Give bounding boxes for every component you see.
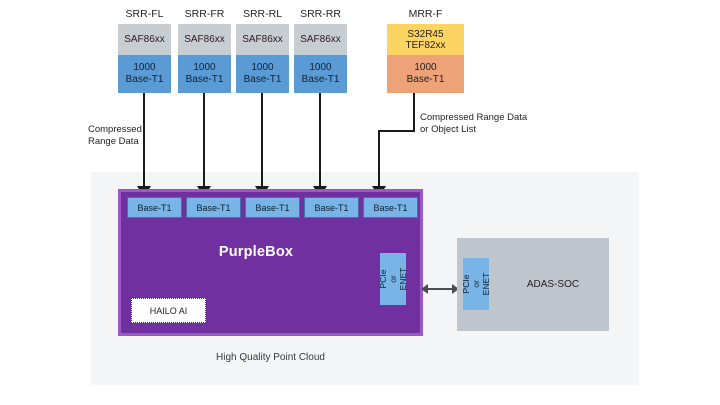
link-line-mrr-vertical-bottom bbox=[378, 130, 380, 194]
sensor-phy: 1000 Base-T1 bbox=[387, 55, 464, 93]
link-line-mrr-horizontal bbox=[378, 130, 415, 132]
diagram-canvas: SRR-FL SAF86xx 1000 Base-T1 SRR-FR SAF86… bbox=[0, 0, 720, 405]
sensor-block-mrr-f[interactable]: MRR-F S32R45 TEF82xx 1000 Base-T1 bbox=[387, 8, 464, 93]
sensor-block-srr-rr[interactable]: SRR-RR SAF86xx 1000 Base-T1 bbox=[294, 8, 347, 93]
sensor-phy: 1000 Base-T1 bbox=[118, 55, 171, 93]
sensor-chip: SAF86xx bbox=[294, 24, 347, 55]
purplebox-unit[interactable]: Base-T1 Base-T1 Base-T1 Base-T1 Base-T1 … bbox=[118, 189, 423, 336]
caption-mrr-link: Compressed Range Data or Object List bbox=[420, 112, 590, 136]
pcie-enet-label: PCIe or ENET bbox=[378, 266, 408, 292]
sensor-phy: 1000 Base-T1 bbox=[178, 55, 231, 93]
adas-soc-unit[interactable]: PCIe or ENET ADAS-SOC bbox=[457, 238, 609, 331]
sensor-label: MRR-F bbox=[387, 8, 464, 20]
pcie-enet-label: PCIe or ENET bbox=[461, 271, 491, 297]
sensor-chip: SAF86xx bbox=[178, 24, 231, 55]
sensor-phy: 1000 Base-T1 bbox=[294, 55, 347, 93]
hailo-ai-label: HAILO AI bbox=[150, 306, 188, 316]
purplebox-pcie-enet-port[interactable]: PCIe or ENET bbox=[380, 253, 406, 305]
sensor-label: SRR-FL bbox=[118, 8, 171, 20]
sensor-chip: SAF86xx bbox=[236, 24, 289, 55]
purplebox-adas-link bbox=[427, 288, 453, 290]
sensor-block-srr-fl[interactable]: SRR-FL SAF86xx 1000 Base-T1 bbox=[118, 8, 171, 93]
caption-srr-link: Compressed Range Data bbox=[88, 124, 168, 148]
sensor-label: SRR-FR bbox=[178, 8, 231, 20]
sensor-phy: 1000 Base-T1 bbox=[236, 55, 289, 93]
adas-soc-label: ADAS-SOC bbox=[497, 238, 609, 331]
purplebox-title: PurpleBox bbox=[121, 244, 391, 260]
link-line-srr-rl bbox=[261, 93, 263, 194]
purplebox-port-1[interactable]: Base-T1 bbox=[127, 197, 182, 218]
port-label: Base-T1 bbox=[314, 203, 348, 213]
port-label: Base-T1 bbox=[196, 203, 230, 213]
sensor-block-srr-rl[interactable]: SRR-RL SAF86xx 1000 Base-T1 bbox=[236, 8, 289, 93]
sensor-block-srr-fr[interactable]: SRR-FR SAF86xx 1000 Base-T1 bbox=[178, 8, 231, 93]
adas-pcie-enet-port[interactable]: PCIe or ENET bbox=[463, 258, 489, 310]
port-label: Base-T1 bbox=[255, 203, 289, 213]
purplebox-port-4[interactable]: Base-T1 bbox=[304, 197, 359, 218]
footer-note: High Quality Point Cloud bbox=[118, 352, 423, 363]
link-line-srr-fr bbox=[203, 93, 205, 194]
port-label: Base-T1 bbox=[137, 203, 171, 213]
hailo-ai-module[interactable]: HAILO AI bbox=[131, 298, 206, 323]
purplebox-port-5[interactable]: Base-T1 bbox=[363, 197, 418, 218]
port-label: Base-T1 bbox=[373, 203, 407, 213]
sensor-chip: S32R45 TEF82xx bbox=[387, 24, 464, 55]
arrowhead-link-left bbox=[421, 284, 428, 294]
purplebox-port-2[interactable]: Base-T1 bbox=[186, 197, 241, 218]
link-line-mrr-vertical-top bbox=[413, 93, 415, 132]
sensor-label: SRR-RL bbox=[236, 8, 289, 20]
link-line-srr-rr bbox=[319, 93, 321, 194]
sensor-chip: SAF86xx bbox=[118, 24, 171, 55]
sensor-label: SRR-RR bbox=[294, 8, 347, 20]
purplebox-port-3[interactable]: Base-T1 bbox=[245, 197, 300, 218]
